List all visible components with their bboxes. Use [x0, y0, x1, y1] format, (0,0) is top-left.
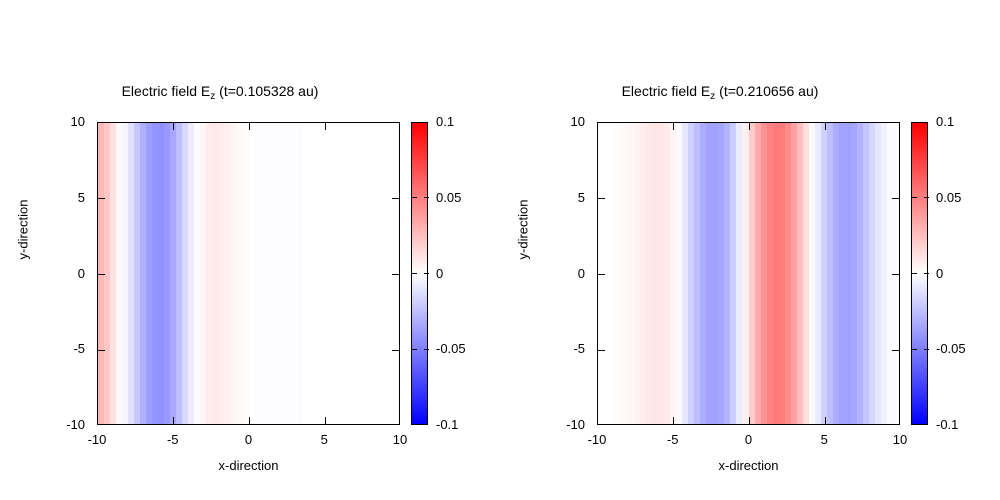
- colorbar-tick-mark: [924, 349, 929, 350]
- y-tick-label: -5: [533, 341, 585, 356]
- x-tick-label: 10: [870, 432, 930, 447]
- x-tick-label: 0: [719, 432, 779, 447]
- y-tick-mark: [598, 274, 605, 275]
- colorbar-tick-label: -0.05: [936, 341, 966, 356]
- plot-title-suffix: (t=0.105328 au): [215, 83, 318, 99]
- x-tick-mark: [825, 417, 826, 424]
- x-tick-label: 10: [370, 432, 430, 447]
- heatmap-plot-area-right: [597, 122, 900, 425]
- y-tick-mark: [392, 350, 399, 351]
- y-tick-mark: [892, 274, 899, 275]
- x-axis-title-left: x-direction: [97, 458, 400, 473]
- y-tick-label: 10: [33, 114, 85, 129]
- colorbar-tick-label: 0.05: [436, 190, 461, 205]
- colorbar-tick-mark: [424, 349, 429, 350]
- plot-title-right: Electric field Ez (t=0.210656 au): [500, 84, 940, 102]
- colorbar-tick-label: 0.1: [436, 114, 454, 129]
- y-tick-mark: [392, 198, 399, 199]
- x-tick-label: -5: [643, 432, 703, 447]
- colorbar-tick-mark: [912, 197, 917, 198]
- x-tick-mark: [173, 123, 174, 130]
- heatmap-field-left: [98, 123, 399, 424]
- y-tick-label: 0: [33, 266, 85, 281]
- x-axis-title-right: x-direction: [597, 458, 900, 473]
- colorbar-tick-label: -0.05: [436, 341, 466, 356]
- x-tick-label: -5: [143, 432, 203, 447]
- y-tick-mark: [98, 274, 105, 275]
- x-tick-mark: [325, 417, 326, 424]
- x-tick-mark: [825, 123, 826, 130]
- colorbar-tick-label: -0.1: [936, 417, 958, 432]
- y-tick-mark: [598, 350, 605, 351]
- x-tick-mark: [749, 417, 750, 424]
- y-tick-label: 5: [33, 190, 85, 205]
- y-tick-mark: [598, 198, 605, 199]
- colorbar-tick-mark: [924, 197, 929, 198]
- colorbar-tick-mark: [424, 273, 429, 274]
- x-tick-label: 5: [794, 432, 854, 447]
- colorbar-tick-mark: [412, 273, 417, 274]
- plot-title-suffix: (t=0.210656 au): [715, 83, 818, 99]
- y-tick-mark: [892, 198, 899, 199]
- y-tick-mark: [392, 274, 399, 275]
- x-tick-mark: [249, 417, 250, 424]
- x-tick-label: 0: [219, 432, 279, 447]
- colorbar-tick-label: -0.1: [436, 417, 458, 432]
- x-tick-mark: [325, 123, 326, 130]
- plot-panel-left: Electric field Ez (t=0.105328 au) x-dire…: [0, 0, 500, 500]
- x-tick-label: 5: [294, 432, 354, 447]
- x-tick-label: -10: [67, 432, 127, 447]
- colorbar-tick-mark: [924, 273, 929, 274]
- y-tick-label: 0: [533, 266, 585, 281]
- y-tick-label: 5: [533, 190, 585, 205]
- colorbar-tick-label: 0: [936, 266, 943, 281]
- y-tick-mark: [98, 198, 105, 199]
- colorbar-tick-label: 0.05: [936, 190, 961, 205]
- y-tick-label: -5: [33, 341, 85, 356]
- colorbar-tick-mark: [412, 197, 417, 198]
- plot-title-left: Electric field Ez (t=0.105328 au): [0, 84, 440, 102]
- x-tick-mark: [749, 123, 750, 130]
- x-tick-label: -10: [567, 432, 627, 447]
- x-tick-mark: [249, 123, 250, 130]
- x-tick-mark: [673, 417, 674, 424]
- colorbar-tick-mark: [912, 273, 917, 274]
- y-tick-mark: [98, 350, 105, 351]
- x-tick-mark: [673, 123, 674, 130]
- y-tick-label: -10: [533, 417, 585, 432]
- colorbar-tick-label: 0: [436, 266, 443, 281]
- y-axis-title-right: y-direction: [516, 150, 531, 310]
- y-tick-label: -10: [33, 417, 85, 432]
- plot-title-prefix: Electric field E: [622, 83, 711, 99]
- colorbar-tick-mark: [912, 349, 917, 350]
- heatmap-plot-area-left: [97, 122, 400, 425]
- colorbar-tick-mark: [424, 197, 429, 198]
- heatmap-field-right: [598, 123, 899, 424]
- x-tick-mark: [173, 417, 174, 424]
- plot-panel-right: Electric field Ez (t=0.210656 au) x-dire…: [500, 0, 1000, 500]
- colorbar-tick-mark: [412, 349, 417, 350]
- y-axis-title-left: y-direction: [16, 150, 31, 310]
- y-tick-label: 10: [533, 114, 585, 129]
- colorbar-tick-label: 0.1: [936, 114, 954, 129]
- plot-title-prefix: Electric field E: [122, 83, 211, 99]
- y-tick-mark: [892, 350, 899, 351]
